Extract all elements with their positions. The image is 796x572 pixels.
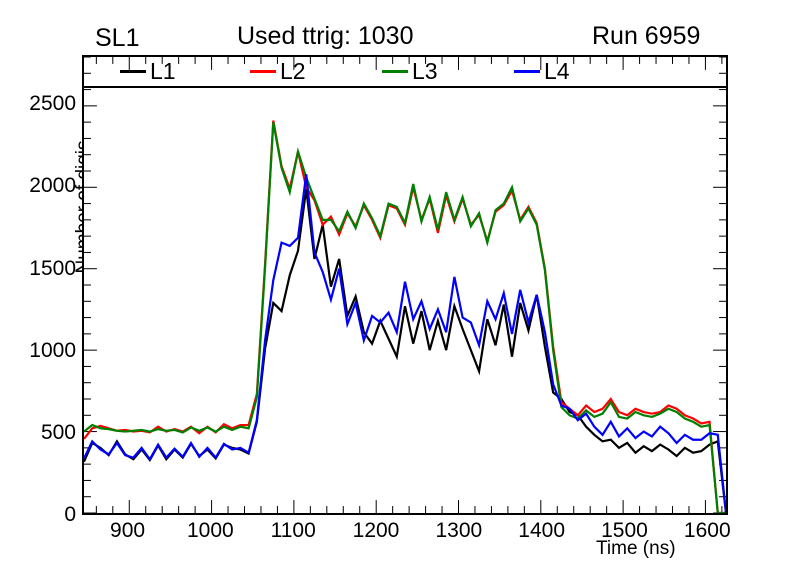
x-tick-1200: 1200	[353, 519, 400, 543]
x-tick-1500: 1500	[601, 519, 648, 543]
legend-entry-l4[interactable]: L4	[514, 58, 570, 84]
legend-entry-l2[interactable]: L2	[250, 58, 306, 84]
x-tick-1100: 1100	[271, 519, 316, 543]
legend-swatch-l1-icon	[120, 70, 146, 73]
legend-label-l1: L1	[150, 60, 176, 83]
legend-swatch-l2-icon	[250, 70, 276, 73]
legend: L1L2L3L4	[82, 55, 728, 88]
legend-swatch-l4-icon	[514, 70, 540, 73]
legend-entry-l3[interactable]: L3	[382, 58, 438, 84]
data-series-canvas	[84, 57, 726, 513]
series-line-l1	[84, 189, 726, 513]
legend-label-l4: L4	[544, 60, 570, 83]
x-tick-1600: 1600	[684, 519, 731, 543]
legend-entry-l1[interactable]: L1	[120, 58, 176, 84]
legend-label-l3: L3	[412, 60, 438, 83]
plot-area	[82, 55, 728, 515]
x-tick-1000: 1000	[187, 519, 234, 543]
chart-root: SL1 Used ttrig: 1030 Run 6959 Number of …	[0, 0, 796, 572]
legend-swatch-l3-icon	[382, 70, 408, 73]
x-tick-1300: 1300	[435, 519, 482, 543]
x-tick-900: 900	[110, 519, 145, 543]
x-tick-1400: 1400	[518, 519, 565, 543]
legend-label-l2: L2	[280, 60, 306, 83]
